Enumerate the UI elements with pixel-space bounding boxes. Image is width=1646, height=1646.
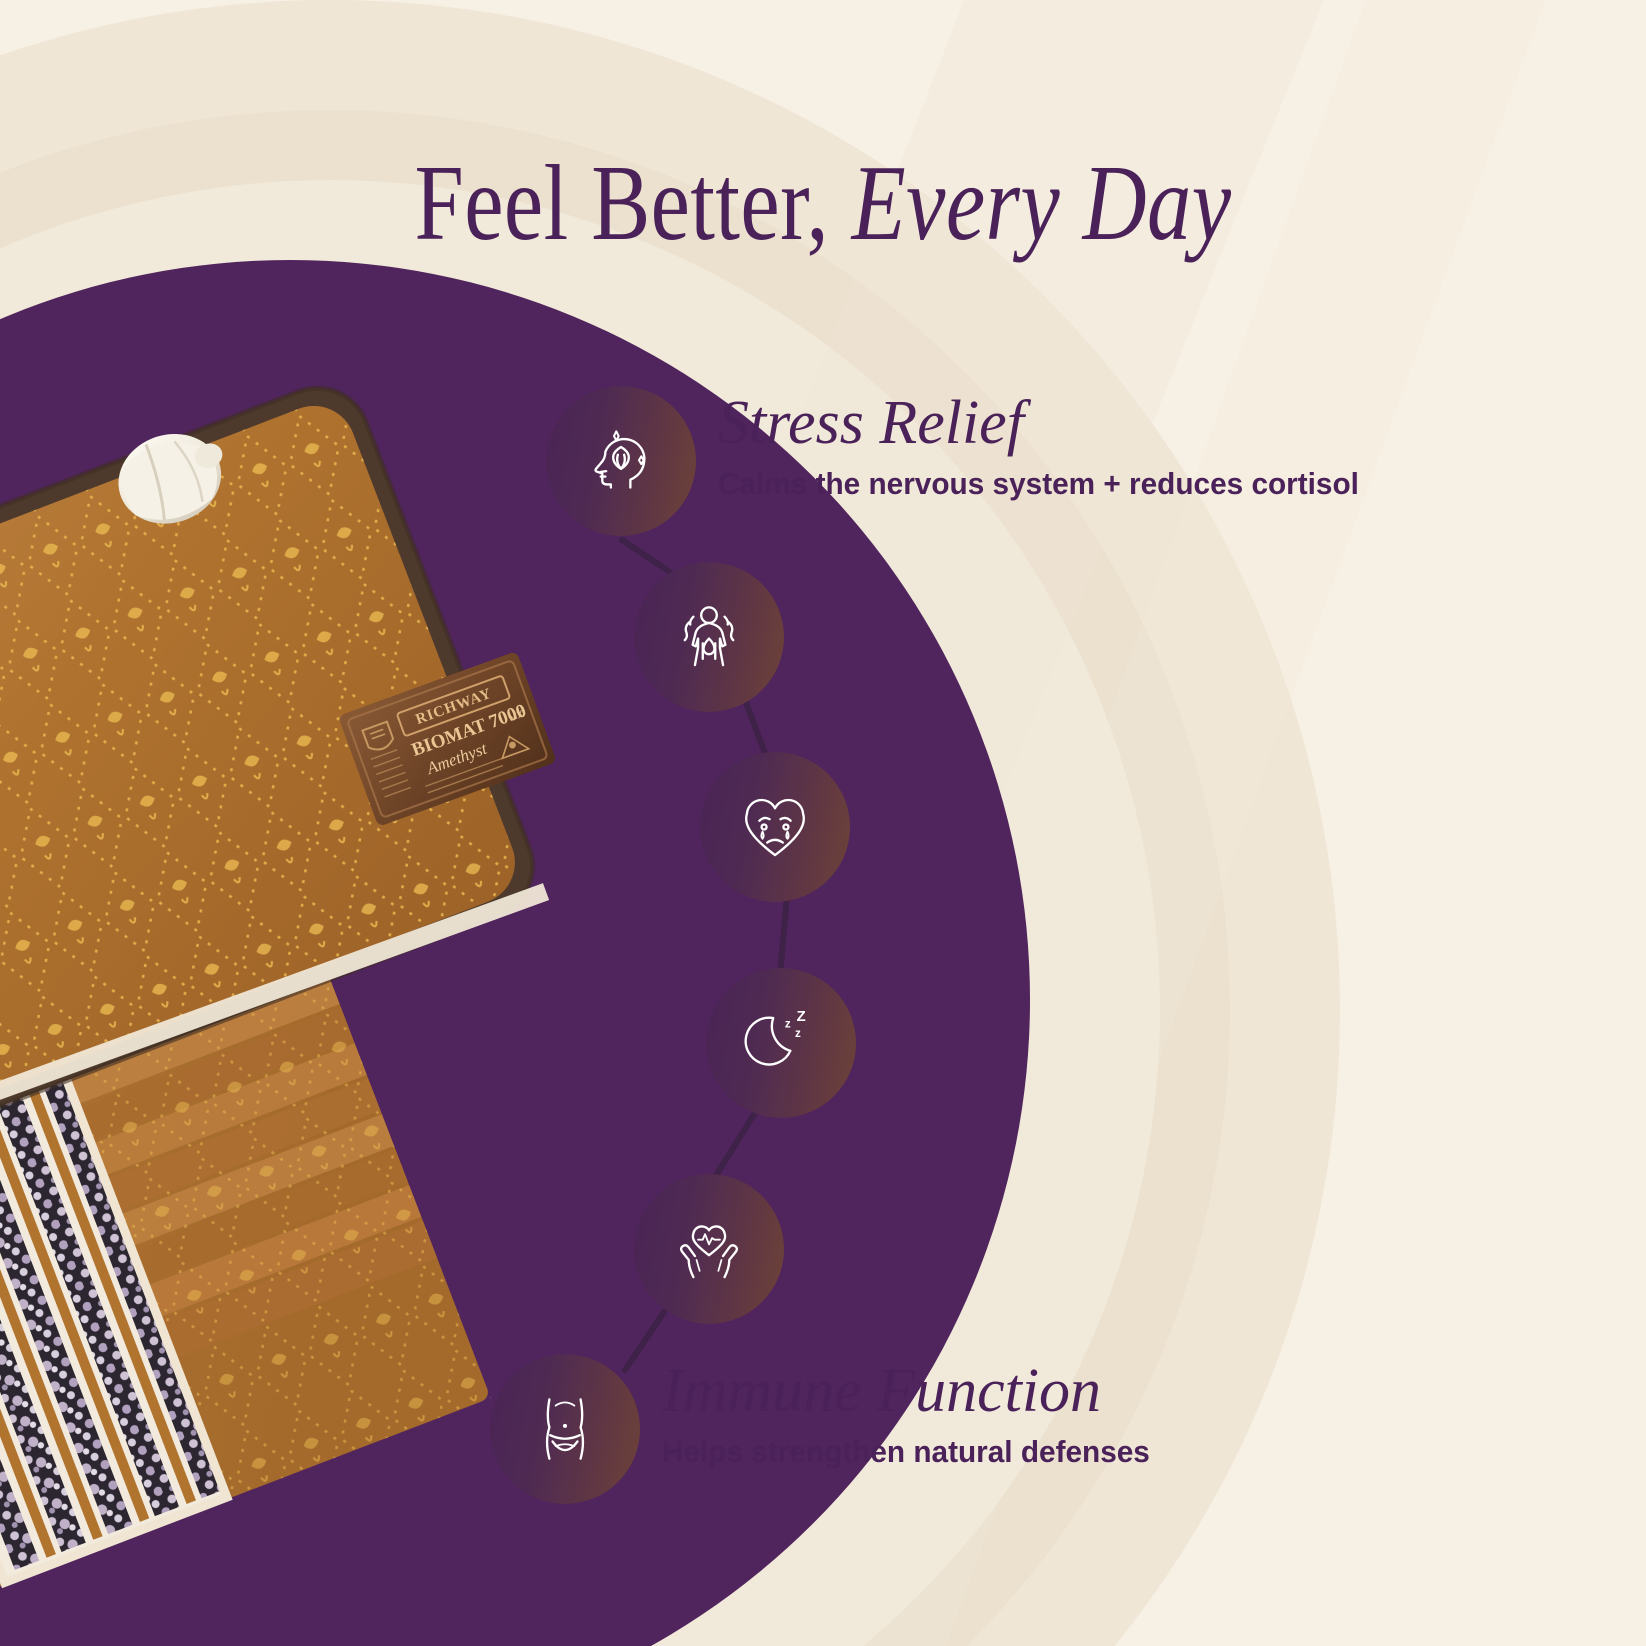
badge-mood-balance[interactable] — [700, 752, 850, 902]
benefit-subtitle: Helps strengthen natural defenses — [662, 1433, 1150, 1470]
title-italic: Every Day — [852, 144, 1232, 263]
svg-text:Z: Z — [797, 1009, 806, 1025]
badge-pain-relief[interactable] — [634, 562, 784, 712]
svg-text:z: z — [785, 1017, 791, 1030]
page-title: Feel Better, Every Day — [148, 150, 1498, 258]
torso-icon — [526, 1390, 604, 1468]
body-flame-icon — [670, 598, 748, 676]
benefit-subtitle: Calms the nervous system + reduces corti… — [718, 465, 1359, 502]
benefit-title: Stress Relief — [718, 392, 1386, 455]
title-regular: Feel Better, — [415, 144, 830, 263]
benefit-title: Immune Function — [662, 1360, 1170, 1423]
moon-zzz-icon: z Z z — [742, 1004, 820, 1082]
badge-improved-sleep[interactable]: z Z z — [706, 968, 856, 1118]
benefit-text-immune-function: Immune Function Helps strengthen natural… — [662, 1360, 1170, 1470]
badge-stress-relief[interactable] — [546, 386, 696, 536]
head-lotus-icon — [582, 422, 660, 500]
infographic-canvas: RICHWAY BIOMAT 7000 MX Amethyst — [0, 0, 1646, 1646]
benefit-text-stress-relief: Stress Relief Calms the nervous system +… — [718, 392, 1386, 502]
heart-face-icon — [736, 788, 814, 866]
badge-immune-function[interactable] — [490, 1354, 640, 1504]
badge-circulation-support[interactable] — [634, 1174, 784, 1324]
hands-heart-icon — [670, 1210, 748, 1288]
svg-text:z: z — [795, 1027, 801, 1040]
